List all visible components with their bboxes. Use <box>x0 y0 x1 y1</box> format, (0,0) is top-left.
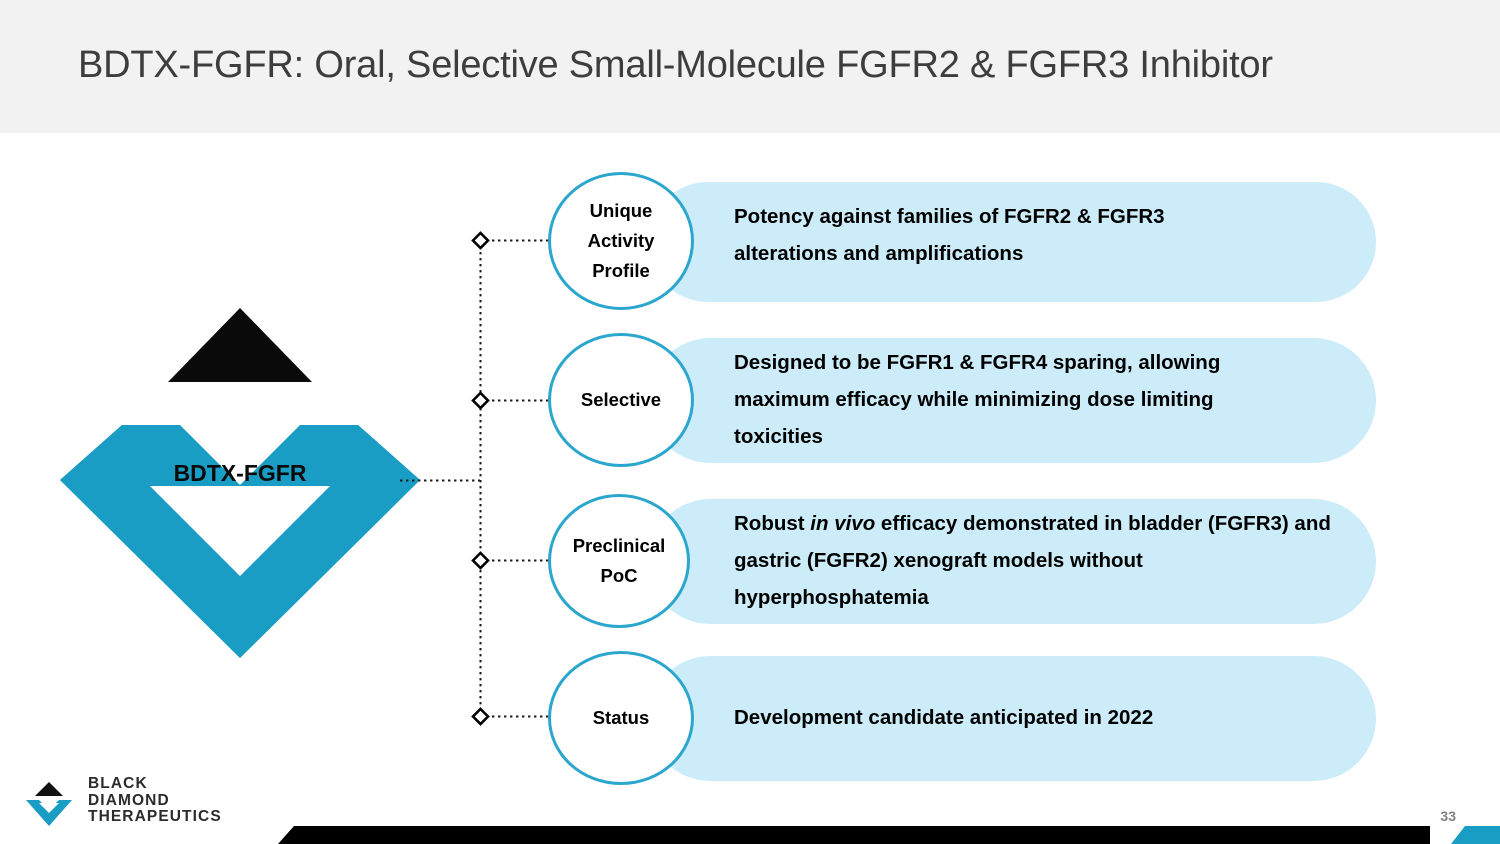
content-line: Development candidate anticipated in 202… <box>734 706 1153 729</box>
content-line: Potency against families of FGFR2 & FGFR… <box>734 205 1165 228</box>
node-label-line: Status <box>593 703 650 733</box>
content-line: Designed to be FGFR1 & FGFR4 sparing, al… <box>734 351 1220 374</box>
diamond-marker-icon-0 <box>473 233 488 248</box>
content-seg-italic: in vivo <box>810 512 875 535</box>
page-title: BDTX-FGFR: Oral, Selective Small-Molecul… <box>78 44 1273 87</box>
node-circle-unique-activity-profile[interactable]: Unique Activity Profile <box>548 172 694 310</box>
content-line: alterations and amplifications <box>734 242 1023 265</box>
node-label-line: PoC <box>573 561 666 591</box>
content-seg: Robust <box>734 512 810 535</box>
content-pill-text: Development candidate anticipated in 202… <box>734 699 1334 736</box>
diamond-marker-icon-1 <box>473 393 488 408</box>
node-circle-selective[interactable]: Selective <box>548 333 694 467</box>
footer-logo-line: DIAMOND <box>88 793 222 810</box>
node-label-line: Activity <box>588 226 655 256</box>
page-number: 33 <box>1440 808 1456 824</box>
node-label-line: Preclinical <box>573 531 666 561</box>
node-circle-status[interactable]: Status <box>548 651 694 785</box>
footer-bar-teal <box>1451 826 1500 844</box>
diamond-marker-icon-3 <box>473 709 488 724</box>
black-triangle-icon <box>168 308 312 382</box>
content-pill-text: Designed to be FGFR1 & FGFR4 sparing, al… <box>734 344 1334 455</box>
node-label-line: Selective <box>581 385 661 415</box>
footer-logo-line: THERAPEUTICS <box>88 809 222 826</box>
content-line: maximum efficacy while minimizing dose l… <box>734 388 1214 411</box>
footer-logo-text: BLACK DIAMOND THERAPEUTICS <box>88 776 222 826</box>
diamond-marker-icon-2 <box>473 553 488 568</box>
footer-bar-black <box>278 826 1430 844</box>
node-label-line: Unique <box>588 196 655 226</box>
footer-logo-line: BLACK <box>88 776 222 793</box>
content-pill-text: Robust in vivo efficacy demonstrated in … <box>734 505 1334 616</box>
black-diamond-logo-icon <box>22 778 76 828</box>
node-circle-preclinical-poc[interactable]: Preclinical PoC <box>548 494 690 628</box>
brand-mark-label: BDTX-FGFR <box>60 460 420 487</box>
content-pill-text: Potency against families of FGFR2 & FGFR… <box>734 198 1334 272</box>
footer-logo: BLACK DIAMOND THERAPEUTICS <box>22 776 222 832</box>
content-line: toxicities <box>734 425 823 448</box>
node-label-line: Profile <box>588 256 655 286</box>
slide: BDTX-FGFR: Oral, Selective Small-Molecul… <box>0 0 1500 844</box>
bdtx-fgfr-diamond-graphic: BDTX-FGFR <box>60 290 420 660</box>
